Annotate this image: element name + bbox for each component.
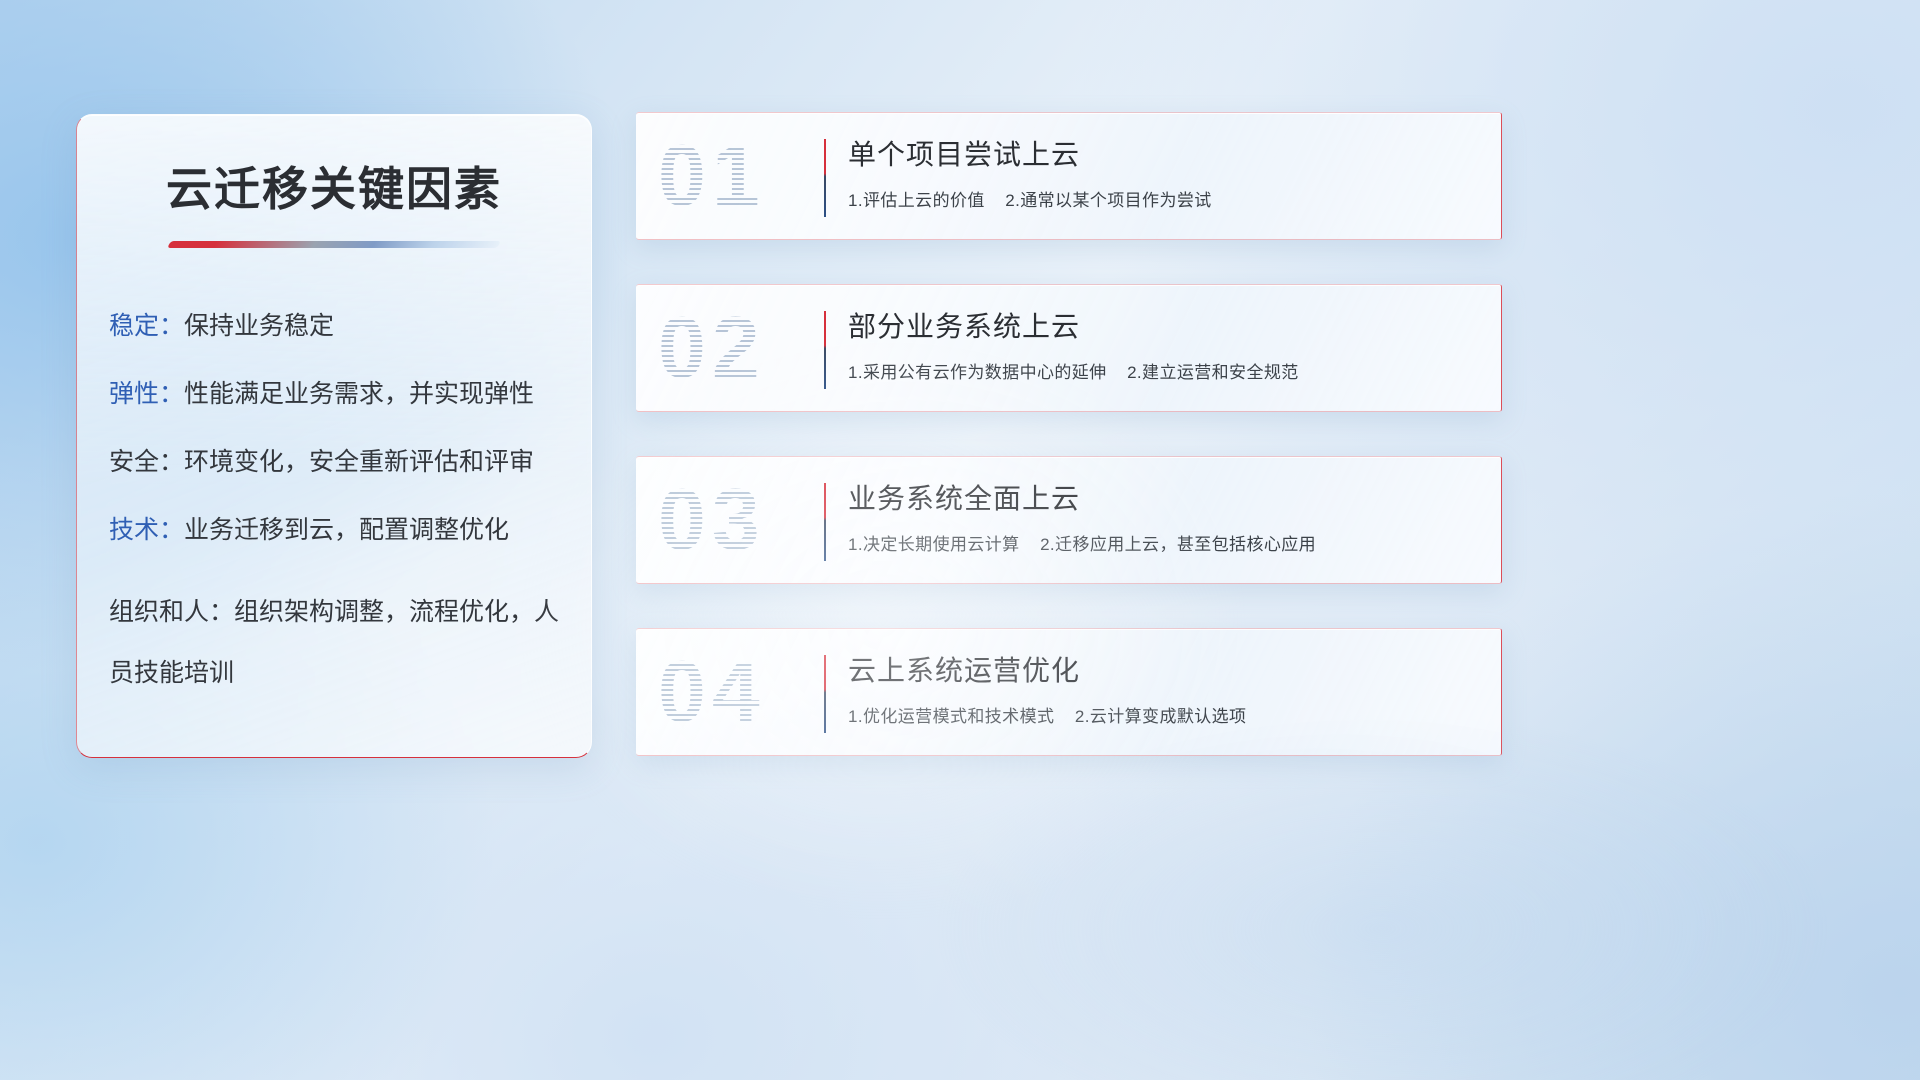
slide-root: 云迁移关键因素 稳定：保持业务稳定 弹性：性能满足业务需求，并实现弹性 安全：环… xyxy=(0,0,1920,1080)
factor-label-elasticity: 弹性： xyxy=(109,380,184,408)
stage-desc-02: 1.采用公有云作为数据中心的延伸 2.建立运营和安全规范 xyxy=(848,358,1483,383)
title-underline-rule xyxy=(167,241,501,248)
stage-divider-04 xyxy=(824,655,826,733)
stage-text-01: 单个项目尝试上云 1.评估上云的价值 2.通常以某个项目作为尝试 xyxy=(848,137,1483,211)
factor-label-organization-and-people: 组织和人： xyxy=(109,598,234,626)
factor-label-technology: 技术： xyxy=(109,516,184,544)
stage-title-03: 业务系统全面上云 xyxy=(848,481,1483,517)
stage-card-01[interactable]: 01 单个项目尝试上云 1.评估上云的价值 2.通常以某个项目作为尝试 xyxy=(636,112,1502,240)
stage-divider-01 xyxy=(824,139,826,217)
stage-title-01: 单个项目尝试上云 xyxy=(848,137,1483,173)
stage-title-02: 部分业务系统上云 xyxy=(848,309,1483,345)
stage-divider-03 xyxy=(824,483,826,561)
stage-card-03[interactable]: 03 业务系统全面上云 1.决定长期使用云计算 2.迁移应用上云，甚至包括核心应… xyxy=(636,456,1502,584)
migration-stage-cards: 01 单个项目尝试上云 1.评估上云的价值 2.通常以某个项目作为尝试 02 部… xyxy=(636,112,1502,800)
stage-title-04: 云上系统运营优化 xyxy=(848,653,1483,689)
factor-list: 稳定：保持业务稳定 弹性：性能满足业务需求，并实现弹性 安全：环境变化，安全重新… xyxy=(77,310,591,703)
stage-number-04: 04 xyxy=(658,649,766,735)
factor-item-technology: 技术：业务迁移到云，配置调整优化 xyxy=(109,514,565,546)
key-factors-panel: 云迁移关键因素 稳定：保持业务稳定 弹性：性能满足业务需求，并实现弹性 安全：环… xyxy=(76,114,592,758)
factor-item-security: 安全：环境变化，安全重新评估和评审 xyxy=(109,446,565,478)
factor-item-organization-and-people: 组织和人：组织架构调整，流程优化，人员技能培训 xyxy=(109,582,565,703)
stage-desc-04: 1.优化运营模式和技术模式 2.云计算变成默认选项 xyxy=(848,702,1483,727)
page-title: 云迁移关键因素 xyxy=(77,153,591,219)
stage-number-03: 03 xyxy=(658,477,766,563)
factor-label-security: 安全： xyxy=(109,448,184,476)
factor-body-security: 环境变化，安全重新评估和评审 xyxy=(184,448,534,476)
stage-text-02: 部分业务系统上云 1.采用公有云作为数据中心的延伸 2.建立运营和安全规范 xyxy=(848,309,1483,383)
factor-item-stability: 稳定：保持业务稳定 xyxy=(109,310,565,342)
stage-text-03: 业务系统全面上云 1.决定长期使用云计算 2.迁移应用上云，甚至包括核心应用 xyxy=(848,481,1483,555)
stage-text-04: 云上系统运营优化 1.优化运营模式和技术模式 2.云计算变成默认选项 xyxy=(848,653,1483,727)
stage-divider-02 xyxy=(824,311,826,389)
stage-desc-01: 1.评估上云的价值 2.通常以某个项目作为尝试 xyxy=(848,186,1483,211)
factor-label-stability: 稳定： xyxy=(109,312,184,340)
factor-body-elasticity: 性能满足业务需求，并实现弹性 xyxy=(184,380,534,408)
stage-number-02: 02 xyxy=(658,305,766,391)
stage-card-02[interactable]: 02 部分业务系统上云 1.采用公有云作为数据中心的延伸 2.建立运营和安全规范 xyxy=(636,284,1502,412)
stage-card-04[interactable]: 04 云上系统运营优化 1.优化运营模式和技术模式 2.云计算变成默认选项 xyxy=(636,628,1502,756)
factor-item-elasticity: 弹性：性能满足业务需求，并实现弹性 xyxy=(109,378,565,410)
stage-number-01: 01 xyxy=(658,133,766,219)
factor-body-technology: 业务迁移到云，配置调整优化 xyxy=(184,516,509,544)
stage-desc-03: 1.决定长期使用云计算 2.迁移应用上云，甚至包括核心应用 xyxy=(848,530,1483,555)
factor-body-stability: 保持业务稳定 xyxy=(184,312,334,340)
